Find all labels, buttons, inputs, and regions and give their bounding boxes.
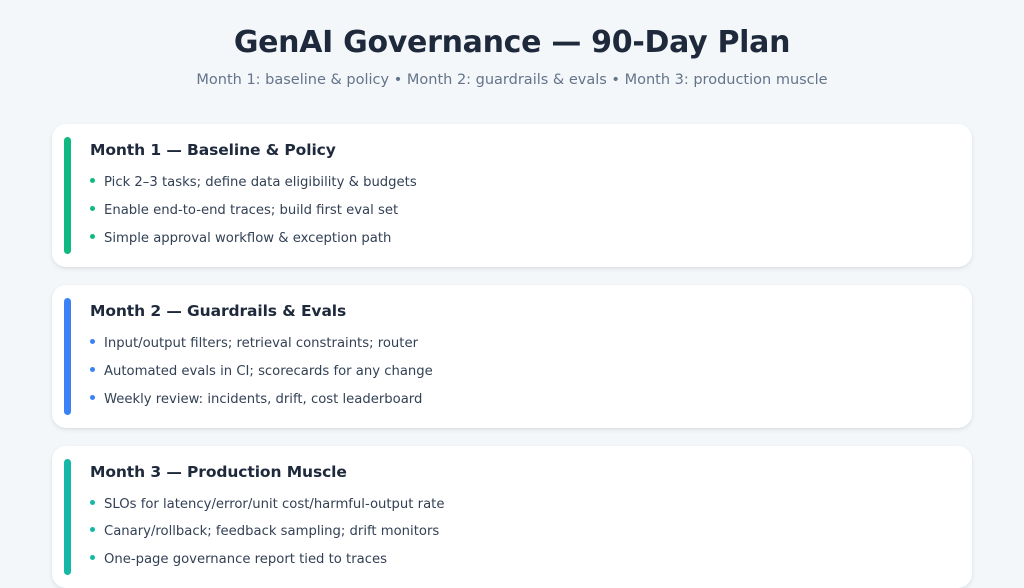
month-card: Month 3 — Production MuscleSLOs for late… (52, 446, 972, 588)
list-item: Pick 2–3 tasks; define data eligibility … (90, 169, 952, 197)
list-item: Simple approval workflow & exception pat… (90, 225, 952, 253)
card-bullet-list: Input/output filters; retrieval constrai… (90, 330, 952, 413)
bullet-dot-icon (90, 500, 95, 505)
list-item: Weekly review: incidents, drift, cost le… (90, 386, 952, 414)
bullet-text: Input/output filters; retrieval constrai… (104, 335, 952, 353)
bullet-dot-icon (90, 178, 95, 183)
bullet-text: Canary/rollback; feedback sampling; drif… (104, 523, 952, 541)
slide-root: GenAI Governance — 90-Day Plan Month 1: … (0, 0, 1024, 576)
card-accent-bar (64, 137, 71, 254)
page-title: GenAI Governance — 90-Day Plan (0, 24, 1024, 62)
card-title: Month 3 — Production Muscle (90, 462, 952, 482)
card-bullet-list: Pick 2–3 tasks; define data eligibility … (90, 169, 952, 252)
bullet-dot-icon (90, 234, 95, 239)
slide-header: GenAI Governance — 90-Day Plan Month 1: … (0, 0, 1024, 89)
bullet-dot-icon (90, 527, 95, 532)
bullet-text: SLOs for latency/error/unit cost/harmful… (104, 496, 952, 514)
card-accent-bar (64, 459, 71, 576)
bullet-dot-icon (90, 206, 95, 211)
bullet-dot-icon (90, 555, 95, 560)
card-title: Month 2 — Guardrails & Evals (90, 301, 952, 321)
card-title: Month 1 — Baseline & Policy (90, 140, 952, 160)
bullet-text: Simple approval workflow & exception pat… (104, 230, 952, 248)
month-card: Month 2 — Guardrails & EvalsInput/output… (52, 285, 972, 428)
bullet-text: Automated evals in CI; scorecards for an… (104, 363, 952, 381)
month-card: Month 1 — Baseline & PolicyPick 2–3 task… (52, 124, 972, 267)
bullet-dot-icon (90, 339, 95, 344)
bullet-text: Weekly review: incidents, drift, cost le… (104, 391, 952, 409)
list-item: One-page governance report tied to trace… (90, 546, 952, 574)
list-item: Automated evals in CI; scorecards for an… (90, 358, 952, 386)
month-card-list: Month 1 — Baseline & PolicyPick 2–3 task… (0, 124, 1024, 588)
bullet-dot-icon (90, 367, 95, 372)
card-bullet-list: SLOs for latency/error/unit cost/harmful… (90, 491, 952, 574)
bullet-text: Pick 2–3 tasks; define data eligibility … (104, 174, 952, 192)
bullet-dot-icon (90, 395, 95, 400)
bullet-text: Enable end-to-end traces; build first ev… (104, 202, 952, 220)
list-item: Input/output filters; retrieval constrai… (90, 330, 952, 358)
card-accent-bar (64, 298, 71, 415)
list-item: SLOs for latency/error/unit cost/harmful… (90, 491, 952, 519)
list-item: Enable end-to-end traces; build first ev… (90, 197, 952, 225)
bullet-text: One-page governance report tied to trace… (104, 551, 952, 569)
page-subtitle: Month 1: baseline & policy • Month 2: gu… (0, 71, 1024, 90)
list-item: Canary/rollback; feedback sampling; drif… (90, 518, 952, 546)
